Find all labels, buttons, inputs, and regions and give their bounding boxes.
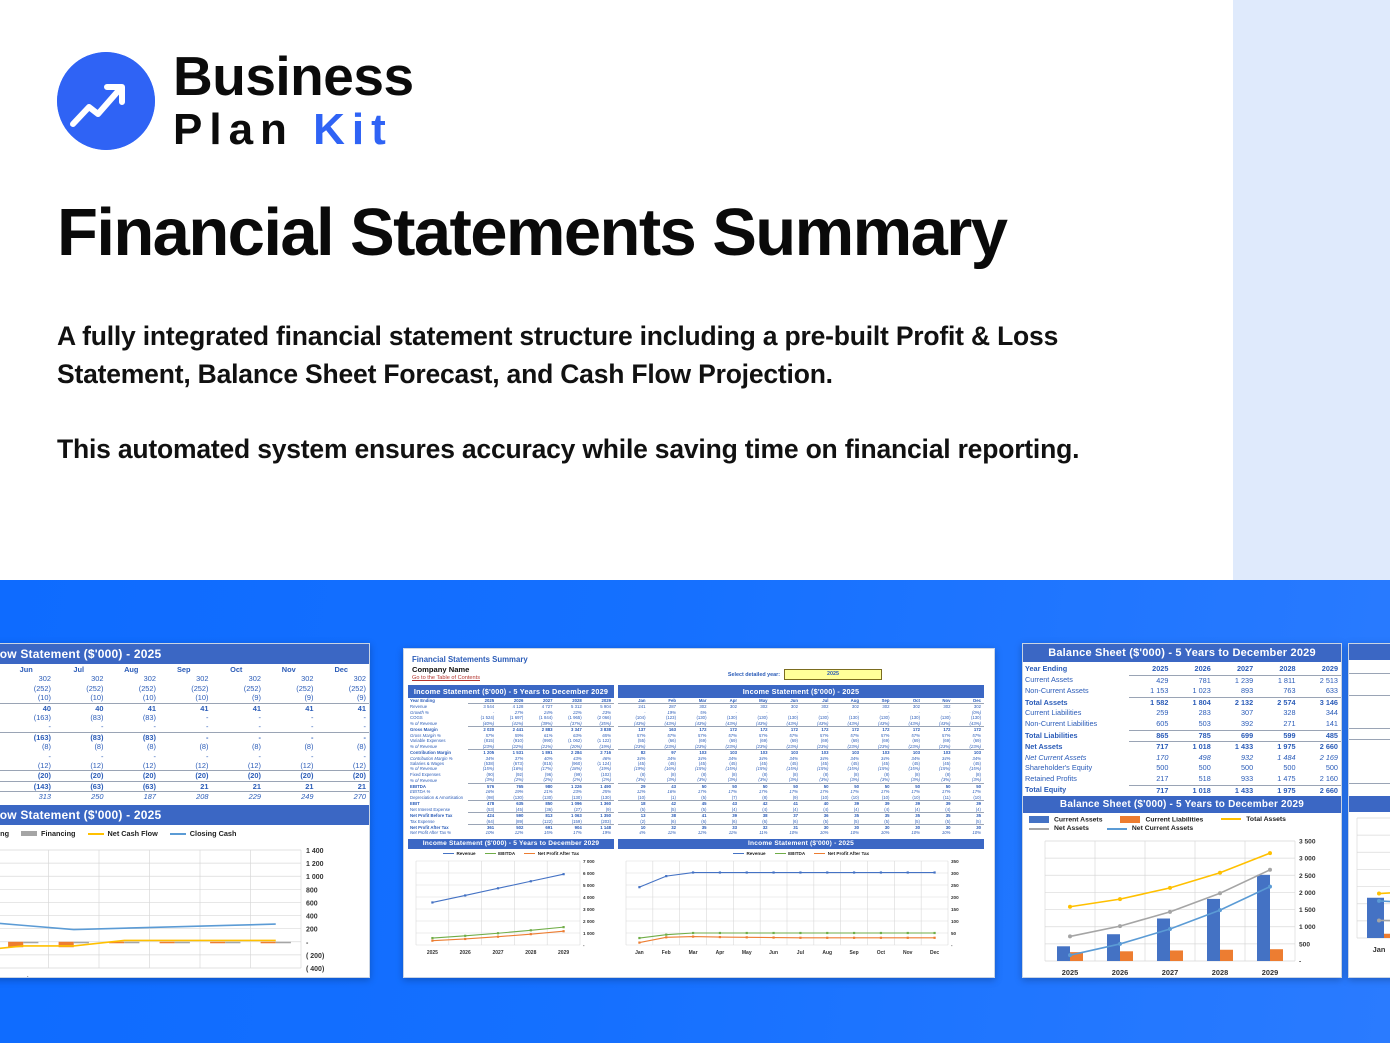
legend-label: Current Liabilities <box>1145 816 1203 823</box>
table-cell: (10) <box>159 693 212 703</box>
year-selector[interactable]: Select detailed year: 2025 <box>728 669 882 680</box>
page-title: Financial Statements Summary <box>57 198 1177 268</box>
table-cell: (83) <box>107 713 160 722</box>
table-row: (163)(163)(83)(83)---- <box>0 732 369 742</box>
svg-text:Sep: Sep <box>117 975 131 978</box>
table-cell: 717 <box>1129 742 1171 753</box>
svg-text:Jul: Jul <box>18 975 29 978</box>
table-cell: 4% <box>618 830 649 835</box>
table-cell: 500 <box>1299 763 1341 774</box>
table-cell: 485 <box>1299 730 1341 742</box>
table-cell: - <box>159 713 212 722</box>
legend-swatch-icon <box>1029 816 1049 823</box>
cash-flow-screenshot-panel[interactable]: Cash Flow Statement ($'000) - 2025 MayJu… <box>0 643 370 978</box>
table-cell: 21 <box>212 781 265 791</box>
table-cell: 250 <box>54 792 107 802</box>
table-cell: - <box>212 752 265 761</box>
svg-text:Jul: Jul <box>797 950 805 956</box>
legend-swatch-icon <box>1120 816 1140 823</box>
table-row: 4%11%12%11%11%10%10%10%10%10%10%10% <box>618 830 984 835</box>
table-cell: 429 <box>1129 675 1171 686</box>
table-row: 456313250187208229249270 <box>0 792 369 802</box>
table-cell: - <box>159 722 212 732</box>
table-cell: 512 <box>1349 783 1390 794</box>
table-cell: 518 <box>1171 774 1213 785</box>
table-cell: 302 <box>159 674 212 683</box>
table-cell: - <box>317 722 370 732</box>
table-cell: - <box>264 722 317 732</box>
table-cell: (10) <box>107 693 160 703</box>
column-header: Jul <box>54 665 107 674</box>
svg-text:400: 400 <box>306 913 318 920</box>
row-label: Shareholder's Equity <box>1023 763 1129 774</box>
legend-label: Net Assets <box>1054 825 1089 832</box>
monthly-income-table: JanFebMarAprMayJunJulAugSepOctNovDec2412… <box>618 698 984 836</box>
table-cell: (9) <box>264 693 317 703</box>
table-cell: 271 <box>1256 719 1298 730</box>
table-cell: 1 475 <box>1256 774 1298 785</box>
legend-item: Financing <box>21 829 75 838</box>
table-cell: 302 <box>107 674 160 683</box>
table-row: 512 <box>1349 740 1390 751</box>
legend-item: Net Profit After Tax <box>814 851 869 856</box>
year-selector-value[interactable]: 2025 <box>784 669 882 680</box>
table-header-row: MayJunJulAugSepOctNovDec <box>0 665 369 674</box>
legend-label: EBITDA <box>788 851 805 856</box>
table-cell: (12) <box>2 761 55 771</box>
table-cell: - <box>264 752 317 761</box>
row-label: Non-Current Liabilities <box>1023 719 1129 730</box>
table-cell: (12) <box>212 761 265 771</box>
svg-text:800: 800 <box>306 887 318 894</box>
svg-text:5 000: 5 000 <box>583 883 595 888</box>
table-cell: (20) <box>264 771 317 781</box>
svg-text:2 000: 2 000 <box>1299 890 1316 897</box>
legend-row: Net AssetsNet Current Assets <box>1029 825 1335 832</box>
annual-chart-legend: RevenueEBITDANet Profit After Tax <box>408 849 614 857</box>
legend-label: Net Cash Flow <box>108 829 158 838</box>
svg-text:3 000: 3 000 <box>583 907 595 912</box>
column-header: Aug <box>107 665 160 674</box>
table-cell: 2 574 <box>1256 697 1298 708</box>
table-cell: 599 <box>1256 730 1298 742</box>
balance-sheet-monthly-panel[interactable]: Jan1 1741241 297936927865121 08150012512… <box>1348 643 1390 978</box>
table-cell: (163) <box>2 732 55 742</box>
legend-item: Net Current Assets <box>1107 825 1193 832</box>
monthly-income-chart-title: Income Statement ($'000) - 2025 <box>618 839 984 849</box>
svg-text:2 500: 2 500 <box>1299 873 1316 880</box>
svg-text:250: 250 <box>951 883 959 888</box>
table-row: 4340404141414141 <box>0 703 369 713</box>
row-label: Current Assets <box>1023 675 1129 686</box>
table-cell: 503 <box>1171 719 1213 730</box>
table-row: Shareholder's Equity500500500500500 <box>1023 763 1341 774</box>
svg-text:Feb: Feb <box>662 950 671 956</box>
table-cell: - <box>2 722 55 732</box>
legend-swatch-icon <box>1107 828 1127 830</box>
income-statement-screenshot-panel[interactable]: Financial Statements Summary Company Nam… <box>403 648 995 978</box>
legend-item: Net Assets <box>1029 825 1089 832</box>
svg-text:2 000: 2 000 <box>583 919 595 924</box>
svg-text:Nov: Nov <box>903 950 913 956</box>
monthly-income-chart-svg: 35030025020015010050-JanFebMarAprMayJunJ… <box>618 857 984 961</box>
table-cell: - <box>264 713 317 722</box>
svg-text:Sep: Sep <box>849 950 858 956</box>
legend-item: EBITDA <box>775 851 806 856</box>
legend-label: Financing <box>41 829 75 838</box>
table-cell: 2028 <box>1256 664 1298 675</box>
svg-text:1 200: 1 200 <box>306 861 324 868</box>
table-cell: 21 <box>317 781 370 791</box>
column-header: Dec <box>317 665 370 674</box>
table-cell: - <box>317 752 370 761</box>
monthly-chart-legend: RevenueEBITDANet Profit After Tax <box>618 849 984 857</box>
row-label: Total Equity <box>1023 785 1129 796</box>
annual-income-chart-title: Income Statement ($'000) - 5 Years to De… <box>408 839 614 849</box>
table-cell: (20) <box>54 771 107 781</box>
cash-flow-chart-svg: 1 4001 2001 000800600400200-( 200)( 400)… <box>0 840 369 978</box>
table-cell: 328 <box>1256 708 1298 719</box>
table-cell: 1 975 <box>1256 742 1298 753</box>
table-cell: 229 <box>212 792 265 802</box>
svg-text:1 000: 1 000 <box>1299 925 1316 932</box>
brand-wordmark: Business Plan Kit <box>173 49 414 152</box>
table-cell: 1 297 <box>1349 695 1390 706</box>
table-cell: (252) <box>317 684 370 693</box>
row-label: Year Ending <box>1023 664 1129 675</box>
table-cell: 1 975 <box>1256 785 1298 796</box>
center-sheet-title: Financial Statements Summary <box>404 649 994 664</box>
legend-item: Closing Cash <box>170 829 237 838</box>
svg-text:Apr: Apr <box>716 950 725 956</box>
table-cell: 10% <box>832 830 863 835</box>
table-cell: 41 <box>159 703 212 713</box>
legend-item: Current Assets <box>1029 816 1102 823</box>
svg-text:2029: 2029 <box>1262 968 1278 977</box>
table-row: -------- <box>0 722 369 732</box>
monthly-income-chart-block: Income Statement ($'000) - 2025 RevenueE… <box>618 839 984 966</box>
svg-text:2025: 2025 <box>427 950 438 956</box>
table-cell: 307 <box>1214 708 1256 719</box>
svg-text:May: May <box>742 950 752 956</box>
table-cell: - <box>107 722 160 732</box>
legend-label: Revenue <box>456 851 475 856</box>
table-cell: 3 146 <box>1299 697 1341 708</box>
legend-swatch-icon <box>1221 818 1241 820</box>
table-cell: 1 804 <box>1171 697 1213 708</box>
annual-income-title: Income Statement ($'000) - 5 Years to De… <box>408 685 614 698</box>
table-cell: 141 <box>1299 719 1341 730</box>
table-row: Total Equity7171 0181 4331 9752 660 <box>1023 785 1341 796</box>
table-cell: 633 <box>1299 686 1341 697</box>
table-cell: 302 <box>2 674 55 683</box>
table-cell: 10% <box>893 830 924 835</box>
table-row: (163)(163)(83)(83)---- <box>0 713 369 722</box>
year-selector-label: Select detailed year: <box>728 672 780 678</box>
table-cell: (83) <box>54 732 107 742</box>
svg-text:6 000: 6 000 <box>583 871 595 876</box>
svg-text:2029: 2029 <box>558 950 569 956</box>
svg-text:-: - <box>1299 959 1301 966</box>
svg-text:3 000: 3 000 <box>1299 856 1316 863</box>
table-cell: (10) <box>54 693 107 703</box>
table-cell: 1 023 <box>1171 686 1213 697</box>
annual-income-chart: 7 0006 0005 0004 0003 0002 0001 000-2025… <box>408 857 614 966</box>
svg-text:( 200): ( 200) <box>306 953 324 960</box>
table-cell: (252) <box>212 684 265 693</box>
row-label: Current Liabilities <box>1023 708 1129 719</box>
table-cell: - <box>212 713 265 722</box>
legend-item: Net Profit After Tax <box>524 851 579 856</box>
table-cell: 500 <box>1214 763 1256 774</box>
row-label: Net Assets <box>1023 742 1129 753</box>
legend-label: Total Assets <box>1246 816 1286 823</box>
table-row: 302302302302302302302302 <box>0 674 369 683</box>
annual-income-table: Year Ending20252026202720282029Revenue3 … <box>408 698 614 836</box>
legend-swatch-icon <box>88 833 104 835</box>
table-cell: 500 <box>1171 763 1213 774</box>
table-row: (21)(20)(20)(20)(20)(20)(20)(20) <box>0 771 369 781</box>
table-cell: 11% <box>649 830 680 835</box>
svg-text:2028: 2028 <box>525 950 536 956</box>
table-row: 12 <box>1349 772 1390 783</box>
hero-paragraph-1: A fully integrated financial statement s… <box>57 318 1147 393</box>
svg-text:200: 200 <box>951 895 959 900</box>
table-cell: (12) <box>107 761 160 771</box>
table-cell: 10% <box>771 830 802 835</box>
table-cell: 1 081 <box>1349 751 1390 762</box>
legend-swatch-icon <box>170 833 186 835</box>
table-cell: 498 <box>1171 753 1213 764</box>
svg-text:Jun: Jun <box>769 950 778 956</box>
table-cell: - <box>317 732 370 742</box>
table-row: -------- <box>0 752 369 761</box>
brand-word-plan: Plan <box>173 105 294 154</box>
table-row: Total Assets1 5821 8042 1322 5743 146 <box>1023 697 1341 708</box>
column-header: Jan <box>1349 662 1390 673</box>
table-cell: (8) <box>107 742 160 751</box>
table-cell: (252) <box>264 684 317 693</box>
svg-text:2026: 2026 <box>1112 968 1128 977</box>
svg-text:Mar: Mar <box>689 950 698 956</box>
table-cell: 40 <box>2 703 55 713</box>
table-cell: (83) <box>54 713 107 722</box>
table-cell: 21 <box>159 781 212 791</box>
table-row: (141)(143)(63)(63)21212121 <box>0 781 369 791</box>
column-header: Jun <box>2 665 55 674</box>
svg-text:7 000: 7 000 <box>583 859 595 864</box>
table-row: 1 174 <box>1349 673 1390 684</box>
table-cell: 10% <box>862 830 893 835</box>
table-row: 500 <box>1349 761 1390 772</box>
table-cell: 270 <box>317 792 370 802</box>
table-cell: 692 <box>1349 717 1390 728</box>
table-cell: - <box>107 752 160 761</box>
balance-sheet-screenshot-panel[interactable]: Balance Sheet ($'000) - 5 Years to Decem… <box>1022 643 1342 978</box>
row-label: Net Profit After Tax % <box>408 830 468 835</box>
svg-text:350: 350 <box>951 859 959 864</box>
table-cell: 10% <box>923 830 954 835</box>
table-row: Current Assets4297811 2391 8112 513 <box>1023 675 1341 686</box>
svg-text:1 400: 1 400 <box>306 848 324 855</box>
table-cell: (8) <box>317 742 370 751</box>
table-cell: 786 <box>1349 728 1390 740</box>
table-cell: - <box>159 752 212 761</box>
table-header-row: Jan <box>1349 662 1390 673</box>
brand-line-plan-kit: Plan Kit <box>173 108 414 152</box>
svg-text:200: 200 <box>306 926 318 933</box>
table-cell: 1 153 <box>1129 686 1171 697</box>
svg-text:Jan: Jan <box>635 950 644 956</box>
svg-text:Oct: Oct <box>877 950 886 956</box>
table-cell: (9) <box>212 693 265 703</box>
table-cell: - <box>212 722 265 732</box>
legend-line-icon <box>775 853 786 855</box>
table-cell: (8) <box>212 742 265 751</box>
brand-line-business: Business <box>173 49 414 104</box>
table-cell: 302 <box>212 674 265 683</box>
table-cell: 259 <box>1129 708 1171 719</box>
table-cell: 392 <box>1214 719 1256 730</box>
table-cell: 2027 <box>1214 664 1256 675</box>
balance-sheet-chart: 3 5003 0002 5002 0001 5001 000500-202520… <box>1023 835 1341 978</box>
table-cell: 763 <box>1256 686 1298 697</box>
row-label: Retained Profits <box>1023 774 1129 785</box>
legend-label: Net Profit After Tax <box>828 851 869 856</box>
table-row: 1 081 <box>1349 751 1390 762</box>
table-cell: 217 <box>1129 774 1171 785</box>
table-cell: 249 <box>264 792 317 802</box>
cash-flow-chart-title: Cash Flow Statement ($'000) - 2025 <box>0 805 369 825</box>
table-cell: 187 <box>107 792 160 802</box>
legend-label: Investing <box>0 829 9 838</box>
table-row: Net Current Assets1704989321 4842 169 <box>1023 753 1341 764</box>
table-cell: (63) <box>107 781 160 791</box>
legend-item: Revenue <box>443 851 476 856</box>
balance-sheet-table-title: Balance Sheet ($'000) - 5 Years to Decem… <box>1023 644 1341 662</box>
svg-text:150: 150 <box>951 907 959 912</box>
svg-text:2028: 2028 <box>1212 968 1228 977</box>
table-cell: 1 582 <box>1129 697 1171 708</box>
table-cell: - <box>54 752 107 761</box>
legend-label: EBITDA <box>498 851 515 856</box>
table-cell: 10% <box>954 830 985 835</box>
table-cell: - <box>54 722 107 732</box>
table-cell: 1 811 <box>1256 675 1298 686</box>
center-company-name: Company Name <box>404 664 994 674</box>
legend-item: EBITDA <box>485 851 516 856</box>
table-cell: 605 <box>1129 719 1171 730</box>
table-cell: 781 <box>1171 675 1213 686</box>
table-cell: 124 <box>1349 684 1390 695</box>
balance-sheet-chart-legend: Current AssetsCurrent LiabilitiesTotal A… <box>1023 813 1341 835</box>
svg-text:300: 300 <box>951 871 959 876</box>
far-right-chart-svg: Jan <box>1349 812 1390 962</box>
table-cell: 1 018 <box>1171 785 1213 796</box>
table-row: Net Assets7171 0181 4331 9752 660 <box>1023 742 1341 753</box>
table-row: Net Profit After Tax %10%12%15%17%19% <box>408 830 614 835</box>
table-cell: (20) <box>2 771 55 781</box>
table-cell: 2025 <box>1129 664 1171 675</box>
legend-label: Net Current Assets <box>1132 825 1193 832</box>
cash-flow-table-title: Cash Flow Statement ($'000) - 2025 <box>0 644 369 664</box>
table-cell: (12) <box>159 761 212 771</box>
svg-text:1 000: 1 000 <box>306 874 324 881</box>
legend-line-icon <box>443 853 454 855</box>
svg-text:3 500: 3 500 <box>1299 839 1316 846</box>
table-cell: 12% <box>679 830 710 835</box>
table-cell: 302 <box>54 674 107 683</box>
table-cell: (8) <box>264 742 317 751</box>
table-cell: 10% <box>801 830 832 835</box>
table-row: Current Liabilities259283307328344 <box>1023 708 1341 719</box>
table-cell: (10) <box>2 693 55 703</box>
table-cell: (252) <box>159 684 212 693</box>
svg-text:( 400): ( 400) <box>306 966 324 973</box>
column-header: Sep <box>159 665 212 674</box>
table-cell: 893 <box>1214 686 1256 697</box>
legend-item: Net Cash Flow <box>88 829 158 838</box>
table-cell: 2 513 <box>1299 675 1341 686</box>
legend-item: Revenue <box>733 851 766 856</box>
balance-sheet-chart-svg: 3 5003 0002 5002 0001 5001 000500-202520… <box>1023 835 1341 978</box>
table-row: Retained Profits2175189331 4752 160 <box>1023 774 1341 785</box>
row-label: Non-Current Assets <box>1023 686 1129 697</box>
table-cell: 2 660 <box>1299 785 1341 796</box>
table-row: Non-Current Liabilities605503392271141 <box>1023 719 1341 730</box>
table-cell: 17% <box>556 830 585 835</box>
table-cell: 313 <box>2 792 55 802</box>
table-row: 93 <box>1349 706 1390 717</box>
table-cell: (143) <box>2 781 55 791</box>
table-cell: 2 132 <box>1214 697 1256 708</box>
table-cell: (163) <box>2 713 55 722</box>
table-row: 692 <box>1349 717 1390 728</box>
table-cell: (12) <box>317 761 370 771</box>
monthly-income-title: Income Statement ($'000) - 2025 <box>618 685 984 698</box>
row-label: Total Liabilities <box>1023 730 1129 742</box>
table-cell: 2 169 <box>1299 753 1341 764</box>
table-cell: (252) <box>2 684 55 693</box>
svg-text:Dec: Dec <box>269 975 283 978</box>
table-cell: (12) <box>264 761 317 771</box>
svg-text:100: 100 <box>951 919 959 924</box>
svg-text:Dec: Dec <box>930 950 939 956</box>
far-right-table: Jan1 1741241 297936927865121 08150012512 <box>1349 662 1390 794</box>
hero-section: Business Plan Kit Financial Statements S… <box>0 0 1233 580</box>
svg-text:600: 600 <box>306 900 318 907</box>
table-row: (249)(252)(252)(252)(252)(252)(252)(252) <box>0 684 369 693</box>
table-cell: 933 <box>1214 774 1256 785</box>
svg-text:2027: 2027 <box>492 950 503 956</box>
table-cell: 11% <box>740 830 771 835</box>
table-cell: 302 <box>264 674 317 683</box>
table-cell: 1 433 <box>1214 785 1256 796</box>
table-cell: 10% <box>468 830 497 835</box>
legend-swatch-icon <box>21 831 37 836</box>
table-row: 512 <box>1349 783 1390 794</box>
cash-flow-chart: 1 4001 2001 000800600400200-( 200)( 400)… <box>0 840 369 978</box>
balance-sheet-chart-title: Balance Sheet ($'000) - 5 Years to Decem… <box>1023 796 1341 813</box>
table-of-contents-link[interactable]: Go to the Table of Contents <box>404 674 994 681</box>
svg-text:1 000: 1 000 <box>583 931 595 936</box>
legend-label: Net Profit After Tax <box>538 851 579 856</box>
table-cell: - <box>317 713 370 722</box>
far-right-chart-title <box>1349 796 1390 812</box>
cash-flow-chart-legend: InvestingFinancingNet Cash FlowClosing C… <box>0 825 369 840</box>
svg-text:1 500: 1 500 <box>1299 907 1316 914</box>
table-cell: 500 <box>1129 763 1171 774</box>
